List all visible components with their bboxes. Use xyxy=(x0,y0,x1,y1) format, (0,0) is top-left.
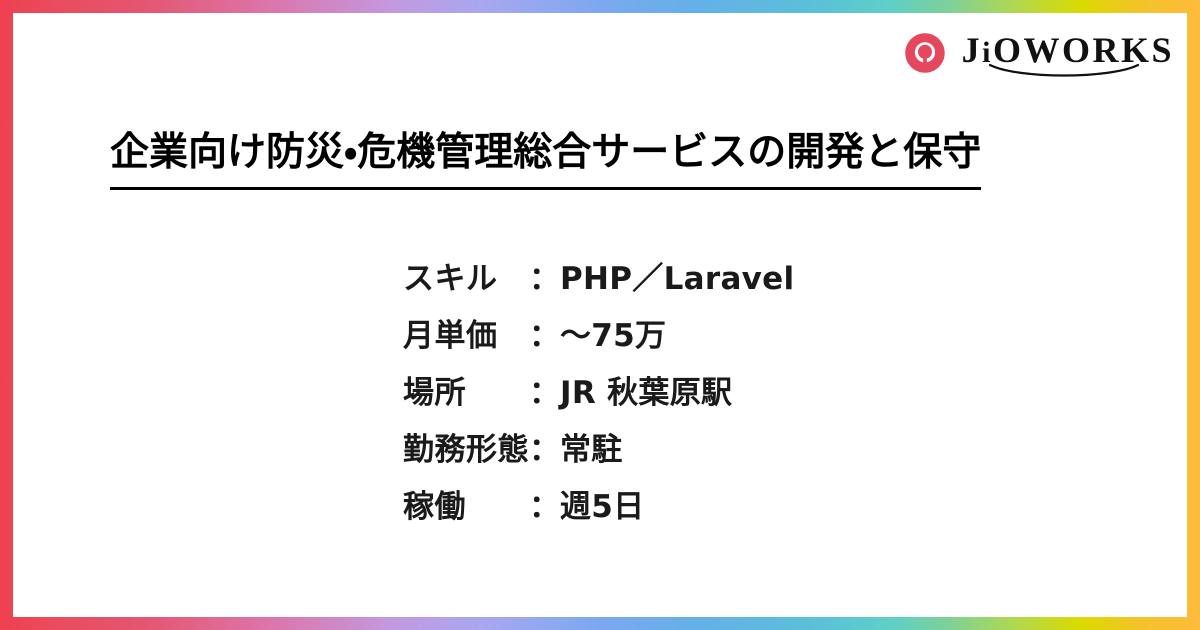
page-title: 企業向け防災・危機管理総合サービスの開発と保守 xyxy=(110,126,1120,190)
detail-separator: ： xyxy=(529,308,560,365)
poster-card: JiOWORKS 企業向け防災・危機管理総合サービスの開発と保守 スキル ： P… xyxy=(0,0,1200,630)
detail-value: 常駐 xyxy=(560,422,623,479)
brand-logo: JiOWORKS xyxy=(904,27,1174,79)
detail-value: 〜75万 xyxy=(560,308,666,365)
detail-row-location: 場所 ： JR 秋葉原駅 xyxy=(403,365,794,422)
detail-label: スキル xyxy=(403,251,529,308)
detail-value: PHP／Laravel xyxy=(560,251,794,308)
detail-separator: ： xyxy=(529,365,560,422)
detail-separator: ： xyxy=(529,479,560,536)
detail-row-work-style: 勤務形態 ： 常駐 xyxy=(403,422,794,479)
detail-row-monthly-rate: 月単価 ： 〜75万 xyxy=(403,308,794,365)
detail-label: 月単価 xyxy=(403,308,529,365)
brand-wordmark: JiOWORKS xyxy=(962,30,1174,76)
detail-separator: ： xyxy=(529,251,560,308)
detail-row-skill: スキル ： PHP／Laravel xyxy=(403,251,794,308)
detail-label: 稼働 xyxy=(403,479,529,536)
detail-value: JR 秋葉原駅 xyxy=(560,365,732,422)
detail-label: 場所 xyxy=(403,365,529,422)
brand-swoosh-icon xyxy=(988,63,1140,79)
detail-label: 勤務形態 xyxy=(403,422,529,479)
jioworks-pin-mark-icon xyxy=(904,32,946,74)
page-title-text: 企業向け防災・危機管理総合サービスの開発と保守 xyxy=(110,126,981,190)
poster-content-area: JiOWORKS 企業向け防災・危機管理総合サービスの開発と保守 スキル ： P… xyxy=(13,13,1187,617)
detail-value: 週5日 xyxy=(560,479,644,536)
detail-separator: ： xyxy=(529,422,560,479)
detail-row-workdays: 稼働 ： 週5日 xyxy=(403,479,794,536)
job-detail-list: スキル ： PHP／Laravel 月単価 ： 〜75万 場所 ： JR 秋葉原… xyxy=(403,251,794,536)
